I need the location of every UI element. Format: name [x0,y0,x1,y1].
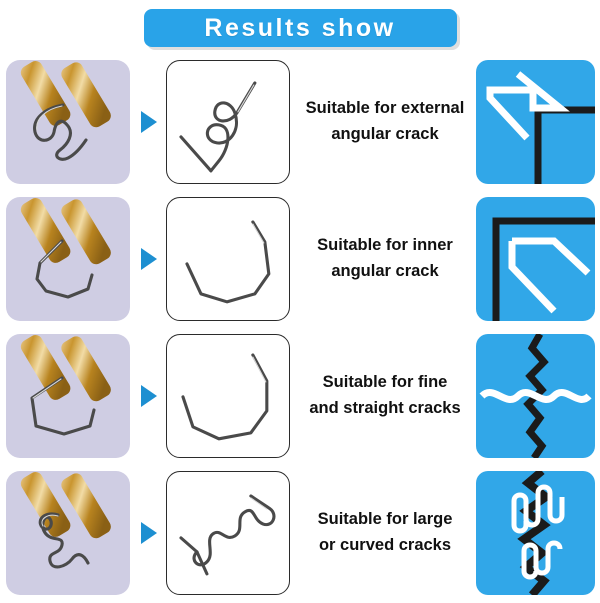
arrow-cell [134,57,164,187]
caption-line-2: or curved cracks [319,533,451,559]
feature-caption: Suitable for large or curved cracks [296,468,474,598]
play-arrow-icon [141,248,157,270]
infographic-page: Results show [0,0,600,600]
caption-line-1: Suitable for external [306,96,465,122]
feature-caption: Suitable for inner angular crack [296,194,474,324]
arrow-cell [134,194,164,324]
staple-panel [166,197,290,321]
arrow-cell [134,331,164,461]
feature-row-external-angular-crack: Suitable for external angular crack [0,57,600,192]
staple-panel [166,60,290,184]
caption-line-1: Suitable for large [318,507,453,533]
play-arrow-icon [141,111,157,133]
caption-line-2: angular crack [331,122,438,148]
play-arrow-icon [141,385,157,407]
crack-illustration-panel [476,60,595,184]
header: Results show [0,8,600,48]
feature-row-fine-straight-cracks: Suitable for fine and straight cracks [0,331,600,466]
caption-line-2: and straight cracks [309,396,460,422]
caption-line-1: Suitable for fine [323,370,448,396]
feature-row-large-curved-cracks: Suitable for large or curved cracks [0,468,600,603]
staple-panel [166,471,290,595]
arrow-cell [134,468,164,598]
photo-panel [6,60,130,184]
crack-illustration-panel [476,197,595,321]
page-title: Results show [204,14,395,43]
staple-panel [166,334,290,458]
crack-illustration-panel [476,334,595,458]
caption-line-1: Suitable for inner [317,233,453,259]
feature-row-inner-angular-crack: Suitable for inner angular crack [0,194,600,329]
feature-caption: Suitable for fine and straight cracks [296,331,474,461]
caption-line-2: angular crack [331,259,438,285]
feature-caption: Suitable for external angular crack [296,57,474,187]
play-arrow-icon [141,522,157,544]
crack-illustration-panel [476,471,595,595]
header-banner: Results show [144,9,457,47]
photo-panel [6,471,130,595]
photo-panel [6,197,130,321]
photo-panel [6,334,130,458]
